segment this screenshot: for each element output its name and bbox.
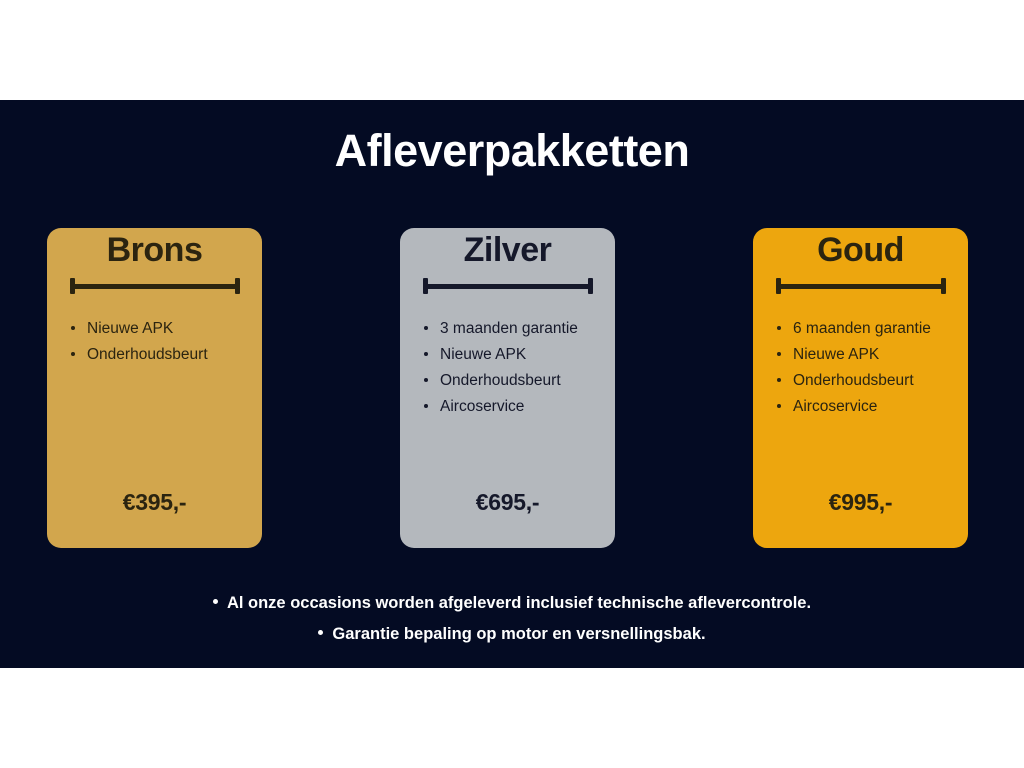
package-feature-list: Nieuwe APKOnderhoudsbeurt (47, 300, 262, 368)
package-price: €995,- (753, 489, 968, 516)
dimension-line-icon (70, 278, 240, 294)
footer-note-text: Garantie bepaling op motor en versnellin… (332, 625, 705, 643)
list-item: Onderhoudsbeurt (422, 368, 615, 394)
package-card-header: Zilver (400, 228, 615, 300)
list-item: Aircoservice (422, 394, 615, 420)
package-card-zilver[interactable]: Zilver3 maanden garantieNieuwe APKOnderh… (400, 228, 615, 548)
list-item: Nieuwe APK (69, 316, 262, 342)
list-item: 6 maanden garantie (775, 316, 968, 342)
package-title: Zilver (400, 232, 615, 269)
bullet-icon (318, 630, 323, 635)
page-title: Afleverpakketten (0, 128, 1024, 173)
poster-stage: Afleverpakketten BronsNieuwe APKOnderhou… (0, 0, 1024, 768)
dimension-line-icon (423, 278, 593, 294)
list-item: Onderhoudsbeurt (69, 342, 262, 368)
footer-note-text: Al onze occasions worden afgeleverd incl… (227, 594, 811, 612)
footer-notes: Al onze occasions worden afgeleverd incl… (0, 588, 1024, 649)
package-card-row: BronsNieuwe APKOnderhoudsbeurt€395,-Zilv… (47, 228, 968, 548)
package-title: Brons (47, 232, 262, 269)
package-price: €395,- (47, 489, 262, 516)
dimension-line-icon (776, 278, 946, 294)
poster-panel: Afleverpakketten BronsNieuwe APKOnderhou… (0, 100, 1024, 668)
list-item: Aircoservice (775, 394, 968, 420)
list-item: 3 maanden garantie (422, 316, 615, 342)
package-card-header: Brons (47, 228, 262, 300)
bullet-icon (213, 599, 218, 604)
footer-note: Garantie bepaling op motor en versnellin… (0, 619, 1024, 650)
package-card-goud[interactable]: Goud6 maanden garantieNieuwe APKOnderhou… (753, 228, 968, 548)
list-item: Nieuwe APK (775, 342, 968, 368)
list-item: Nieuwe APK (422, 342, 615, 368)
list-item: Onderhoudsbeurt (775, 368, 968, 394)
package-card-header: Goud (753, 228, 968, 300)
package-card-brons[interactable]: BronsNieuwe APKOnderhoudsbeurt€395,- (47, 228, 262, 548)
package-feature-list: 3 maanden garantieNieuwe APKOnderhoudsbe… (400, 300, 615, 420)
footer-note: Al onze occasions worden afgeleverd incl… (0, 588, 1024, 619)
package-feature-list: 6 maanden garantieNieuwe APKOnderhoudsbe… (753, 300, 968, 420)
package-title: Goud (753, 232, 968, 269)
package-price: €695,- (400, 489, 615, 516)
